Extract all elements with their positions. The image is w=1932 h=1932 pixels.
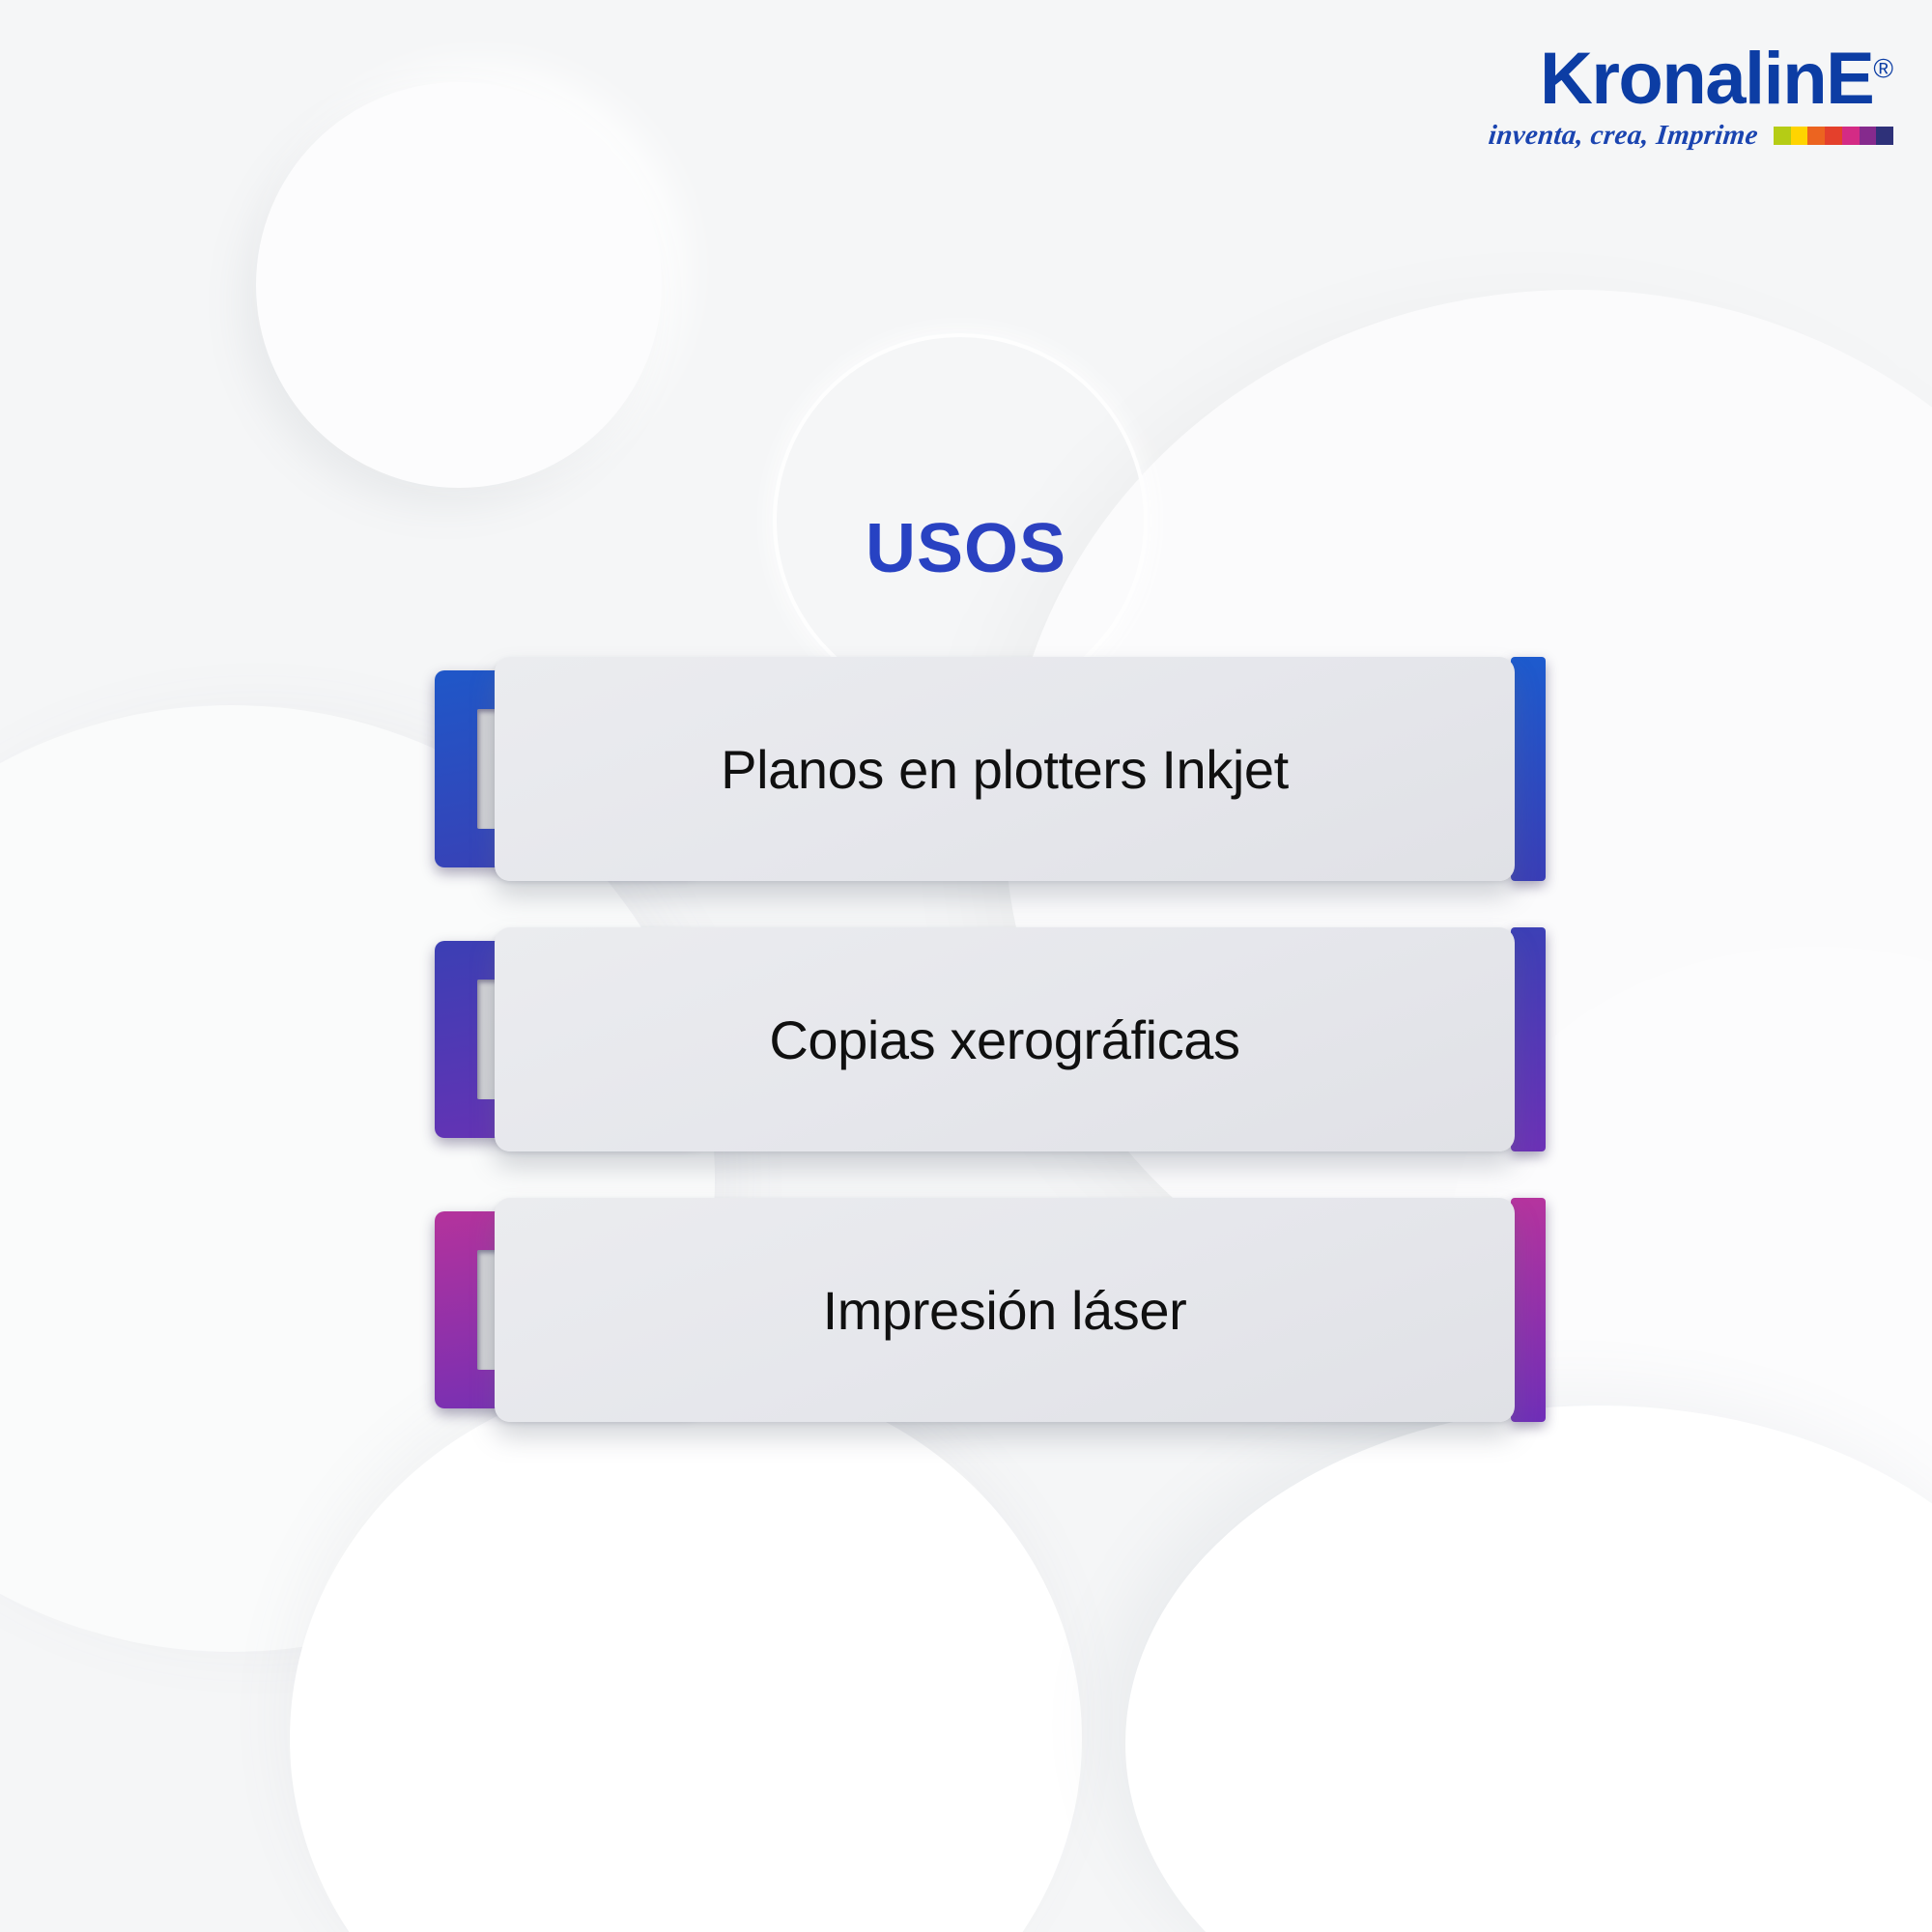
card-panel-1[interactable]: Planos en plotters Inkjet	[495, 657, 1515, 881]
brand-wordmark: KronalinE®	[1540, 44, 1893, 114]
registered-trademark-icon: ®	[1873, 54, 1893, 84]
bg-blob-bottom-middle	[290, 1372, 1082, 1932]
poster-canvas: KronalinE® inventa, crea, Imprime USOS P…	[0, 0, 1932, 1932]
card-right-tab-1	[1511, 657, 1546, 881]
brand-tagline: inventa, crea, Imprime	[1487, 120, 1759, 152]
color-swatch-magenta	[1842, 127, 1860, 145]
card-panel-2[interactable]: Copias xerográficas	[495, 927, 1515, 1151]
brand-name-text: KronalinE	[1540, 38, 1873, 120]
bg-blob-bottom-right	[1125, 1406, 1932, 1932]
color-swatch-orange	[1807, 127, 1825, 145]
brand-logo: KronalinE® inventa, crea, Imprime	[1488, 44, 1893, 152]
color-swatch-yellow-green	[1774, 127, 1791, 145]
color-swatch-yellow	[1791, 127, 1808, 145]
card-label-3: Impresión láser	[794, 1279, 1216, 1342]
bg-circle-top-left	[256, 82, 662, 488]
card-label-1: Planos en plotters Inkjet	[692, 738, 1318, 801]
color-swatch-purple	[1860, 127, 1877, 145]
color-swatch-navy	[1876, 127, 1893, 145]
page-title: USOS	[0, 509, 1932, 588]
brand-color-bar	[1774, 127, 1893, 145]
card-panel-3[interactable]: Impresión láser	[495, 1198, 1515, 1422]
list-item[interactable]: Planos en plotters Inkjet	[435, 657, 1546, 881]
card-right-tab-3	[1511, 1198, 1546, 1422]
card-label-2: Copias xerográficas	[740, 1009, 1268, 1071]
card-right-tab-2	[1511, 927, 1546, 1151]
list-item[interactable]: Copias xerográficas	[435, 927, 1546, 1151]
list-item[interactable]: Impresión láser	[435, 1198, 1546, 1422]
color-swatch-red	[1825, 127, 1842, 145]
usage-card-list: Planos en plotters Inkjet Copias xerográ…	[435, 657, 1546, 1422]
brand-tagline-row: inventa, crea, Imprime	[1488, 120, 1893, 152]
